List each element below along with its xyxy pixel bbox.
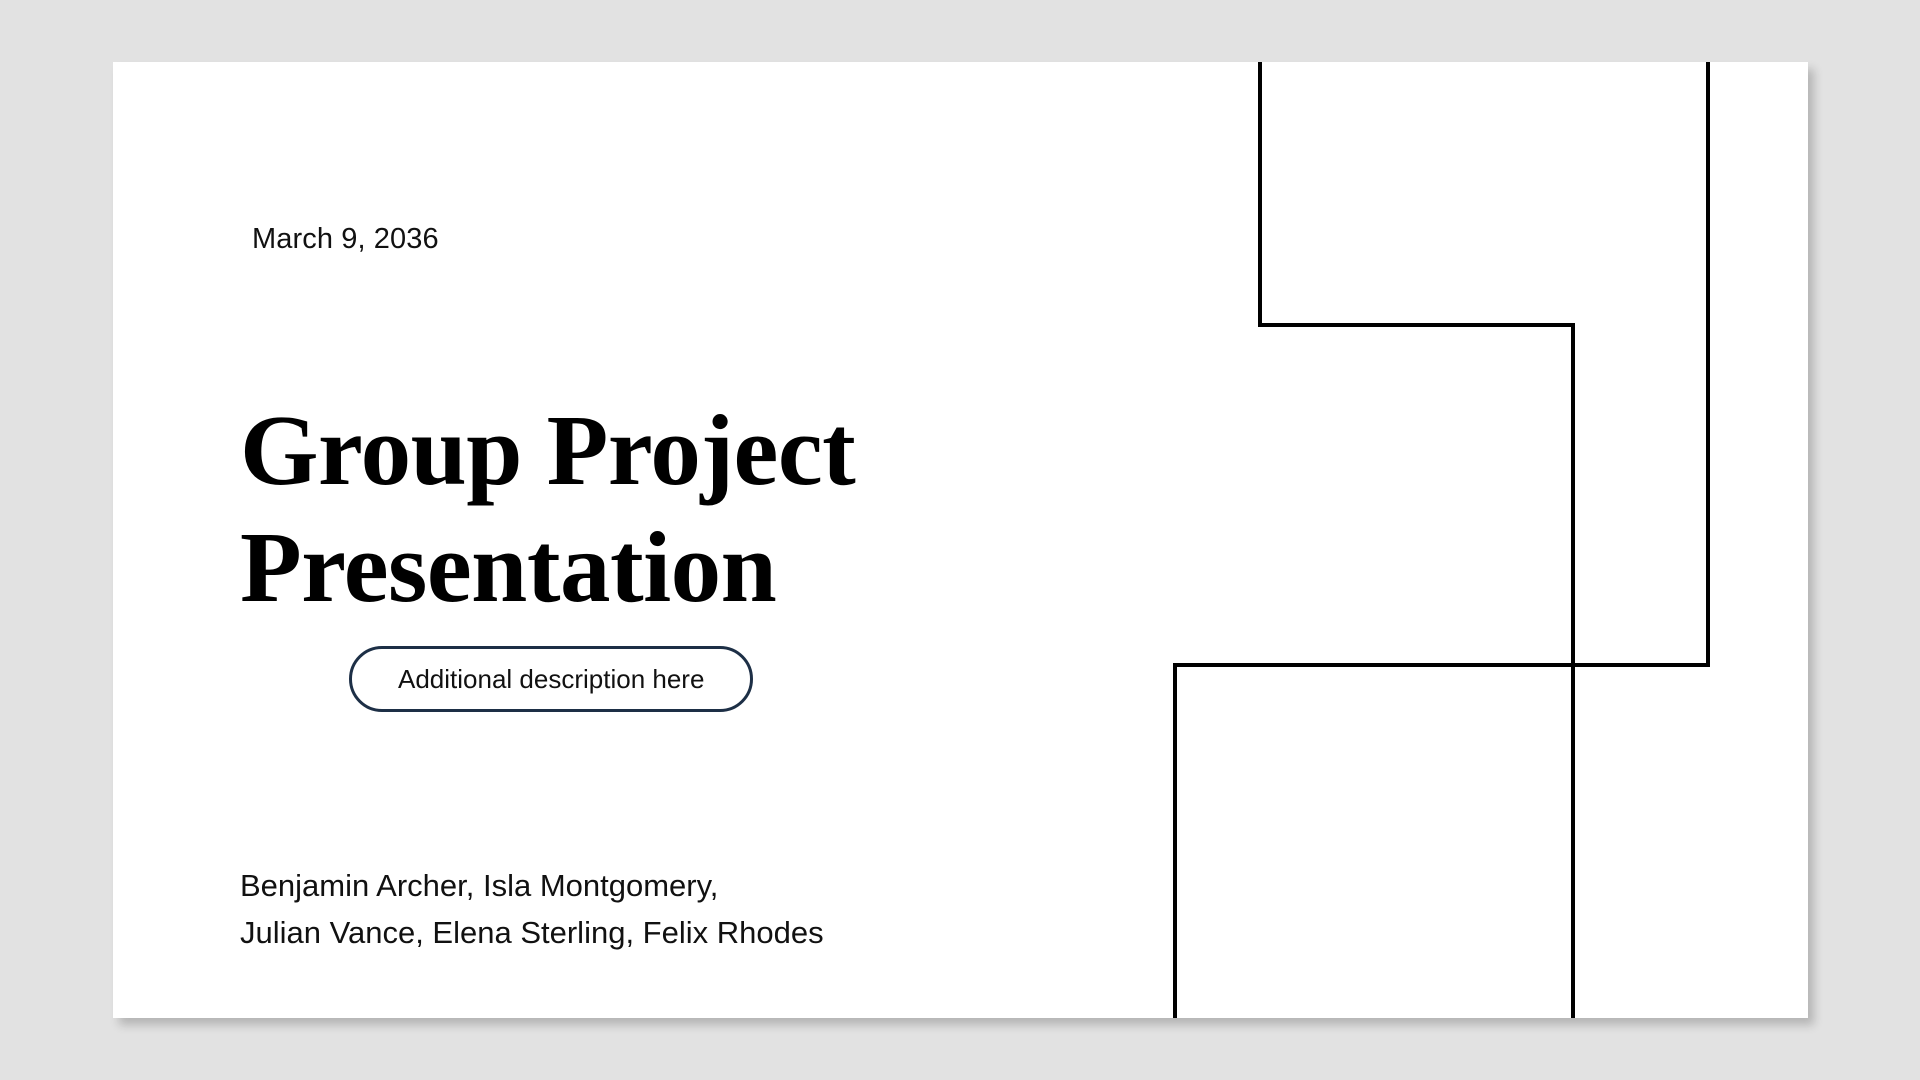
slide-canvas: March 9, 2036 Group Project Presentation… xyxy=(0,0,1920,1080)
author-line-2: Julian Vance, Elena Sterling, Felix Rhod… xyxy=(240,909,1140,956)
title-line-1: Group Project xyxy=(240,392,1100,509)
page-title: Group Project Presentation xyxy=(240,392,1100,626)
author-list: Benjamin Archer, Isla Montgomery, Julian… xyxy=(240,862,1140,956)
slide-date: March 9, 2036 xyxy=(252,222,439,257)
title-line-2: Presentation xyxy=(240,509,1100,626)
presentation-slide: March 9, 2036 Group Project Presentation… xyxy=(113,62,1808,1018)
slide-content: March 9, 2036 Group Project Presentation… xyxy=(113,62,1808,1018)
description-pill[interactable]: Additional description here xyxy=(349,646,753,712)
author-line-1: Benjamin Archer, Isla Montgomery, xyxy=(240,862,1140,909)
